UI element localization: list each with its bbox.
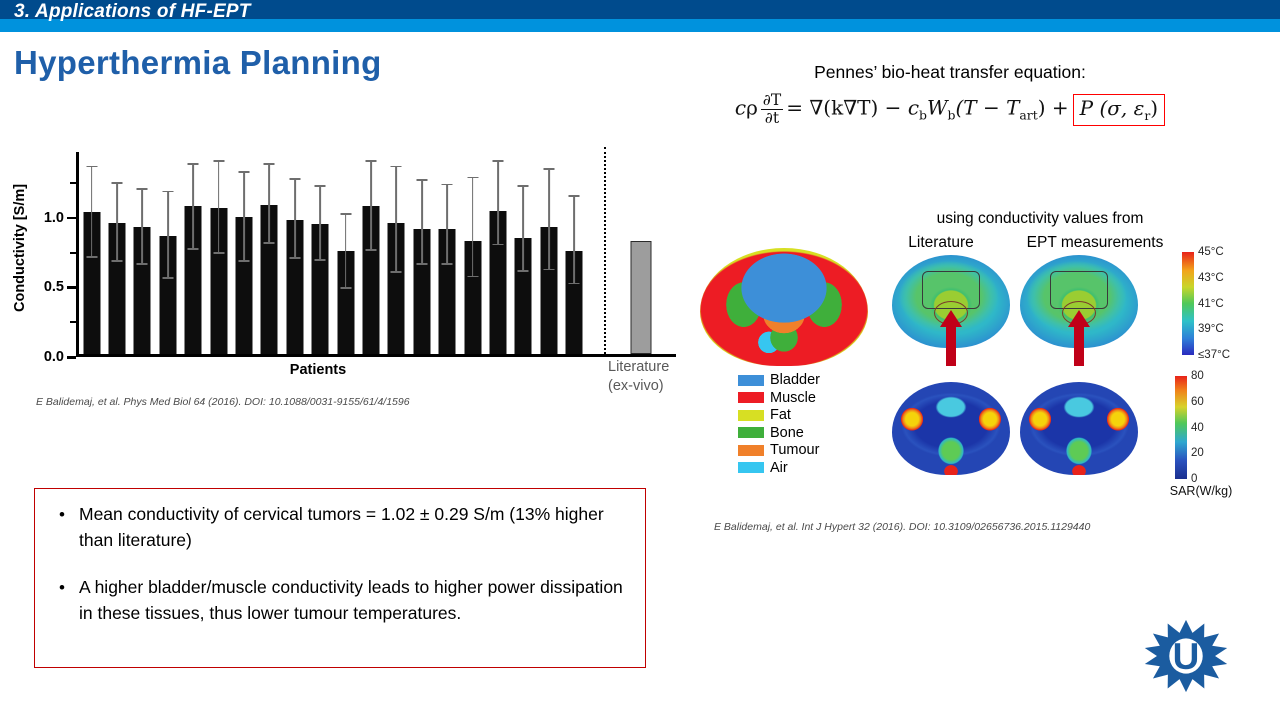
chart-errorbar bbox=[345, 215, 347, 289]
chart-errorbar bbox=[395, 167, 397, 273]
chart-y-minor-tick bbox=[70, 252, 76, 254]
legend-label: Fat bbox=[770, 407, 791, 423]
chart-bar-group bbox=[155, 152, 180, 354]
eq-rhs-2: (T − T bbox=[955, 96, 1019, 120]
chart-y-tick bbox=[67, 286, 76, 289]
chart-errorbar bbox=[497, 162, 499, 246]
chart-errorbar-cap bbox=[239, 171, 250, 173]
chart-errorbar-cap bbox=[365, 160, 376, 162]
tissue-legend: BladderMuscleFatBoneTumourAir bbox=[738, 372, 820, 477]
temperature-colorbar: 45°C43°C41°C39°C≤37°C bbox=[1182, 252, 1194, 355]
eq-cb: c bbox=[908, 96, 919, 120]
colorbar-tick-label: 20 bbox=[1191, 447, 1204, 459]
chart-errorbar bbox=[370, 162, 372, 251]
chart-bar-group-literature bbox=[621, 152, 661, 354]
legend-swatch bbox=[738, 392, 764, 403]
colorbar-tick-label: 45°C bbox=[1198, 246, 1224, 258]
segmented-pelvis-image bbox=[700, 248, 868, 366]
chart-errorbar-cap bbox=[112, 260, 123, 262]
citation-right: E Balidemaj, et al. Int J Hypert 32 (201… bbox=[714, 521, 1090, 533]
chart-errorbar bbox=[319, 187, 321, 261]
chart-errorbar bbox=[421, 181, 423, 265]
colorbar-tick-label: 41°C bbox=[1198, 298, 1224, 310]
eq-boxed-text: P (σ, ε bbox=[1080, 96, 1145, 120]
chart-bar-literature bbox=[630, 241, 651, 354]
eq-rho: ρ bbox=[746, 96, 758, 120]
chart-errorbar-cap bbox=[86, 166, 97, 168]
chart-errorbar-cap bbox=[492, 244, 503, 246]
conductivity-bar-chart: Conductivity [S/m] 0.00.51.0 Patients Li… bbox=[18, 152, 688, 387]
chart-bar-group bbox=[282, 152, 307, 354]
chart-errorbar-cap bbox=[416, 179, 427, 181]
chart-errorbar bbox=[142, 190, 144, 265]
eq-c: c bbox=[735, 96, 746, 120]
colorbar-tick-label: 60 bbox=[1191, 396, 1204, 408]
legend-label: Bladder bbox=[770, 372, 820, 388]
chart-bar-group bbox=[511, 152, 536, 354]
legend-label: Tumour bbox=[770, 442, 819, 458]
eq-boxed-close: ) bbox=[1150, 96, 1158, 120]
chart-errorbar-cap bbox=[391, 166, 402, 168]
chart-errorbar-cap bbox=[86, 256, 97, 258]
chart-errorbar-cap bbox=[289, 178, 300, 180]
chart-bars bbox=[79, 152, 676, 354]
chart-y-minor-tick bbox=[70, 321, 76, 323]
chart-errorbar-cap bbox=[289, 257, 300, 259]
legend-swatch bbox=[738, 445, 764, 456]
chart-y-tick bbox=[67, 217, 76, 220]
legend-item: Air bbox=[738, 460, 820, 476]
chart-x-axis bbox=[76, 354, 676, 357]
sar-map-ept bbox=[1020, 382, 1138, 475]
chart-y-minor-tick bbox=[70, 182, 76, 184]
legend-swatch bbox=[738, 462, 764, 473]
bullet-marker: • bbox=[45, 575, 79, 626]
literature-bar-label: Literature (ex-vivo) bbox=[608, 358, 718, 396]
chart-errorbar-cap bbox=[112, 182, 123, 184]
chart-bar-group bbox=[104, 152, 129, 354]
chart-y-tick-label: 0.5 bbox=[44, 279, 64, 295]
column-label-literature: Literature bbox=[886, 234, 996, 252]
chart-errorbar-cap bbox=[442, 184, 453, 186]
chart-bar-group bbox=[130, 152, 155, 354]
chart-errorbar bbox=[446, 185, 448, 264]
chart-errorbar-cap bbox=[365, 249, 376, 251]
chart-errorbar-cap bbox=[264, 242, 275, 244]
bullet-text: Mean conductivity of cervical tumors = 1… bbox=[79, 502, 629, 553]
section-label: 3. Applications of HF-EPT bbox=[14, 1, 251, 23]
chart-errorbar-cap bbox=[543, 168, 554, 170]
chart-errorbar-cap bbox=[315, 259, 326, 261]
chart-errorbar-cap bbox=[467, 276, 478, 278]
legend-swatch bbox=[738, 375, 764, 386]
legend-item: Fat bbox=[738, 407, 820, 423]
findings-box: • Mean conductivity of cervical tumors =… bbox=[34, 488, 646, 668]
chart-errorbar bbox=[192, 165, 194, 250]
chart-errorbar bbox=[548, 170, 550, 270]
eq-tart-sub: art bbox=[1019, 108, 1037, 123]
chart-errorbar-cap bbox=[569, 195, 580, 197]
chart-errorbar bbox=[116, 184, 118, 262]
chart-errorbar-cap bbox=[442, 263, 453, 265]
sar-colorbar-title: SAR(W/kg) bbox=[1146, 484, 1256, 498]
chart-bar-group bbox=[206, 152, 231, 354]
chart-errorbar-cap bbox=[188, 248, 199, 250]
chart-bar-group bbox=[333, 152, 358, 354]
colorbar-tick-label: ≤37°C bbox=[1198, 349, 1230, 361]
chart-errorbar bbox=[522, 187, 524, 272]
chart-errorbar-cap bbox=[518, 185, 529, 187]
eq-wb: W bbox=[927, 96, 948, 120]
eq-rhs-1: = ∇(k∇T) − bbox=[786, 96, 901, 120]
chart-errorbar bbox=[472, 178, 474, 277]
chart-errorbar-cap bbox=[569, 283, 580, 285]
list-item: • Mean conductivity of cervical tumors =… bbox=[45, 502, 629, 553]
chart-errorbar-cap bbox=[162, 277, 173, 279]
logo-letter: U bbox=[1173, 636, 1200, 677]
chart-errorbar bbox=[243, 173, 245, 262]
chart-errorbar-cap bbox=[391, 271, 402, 273]
legend-label: Bone bbox=[770, 425, 804, 441]
column-label-ept: EPT measurements bbox=[1010, 234, 1180, 252]
bullet-marker: • bbox=[45, 502, 79, 553]
chart-bar-group bbox=[231, 152, 256, 354]
chart-errorbar-cap bbox=[315, 185, 326, 187]
chart-y-tick-label: 1.0 bbox=[44, 210, 64, 226]
sar-map-literature bbox=[892, 382, 1010, 475]
chart-bar-group bbox=[561, 152, 586, 354]
chart-errorbar-cap bbox=[416, 263, 427, 265]
legend-swatch bbox=[738, 427, 764, 438]
chart-bar-group bbox=[536, 152, 561, 354]
sar-colorbar: 806040200 bbox=[1175, 376, 1187, 479]
chart-bar-group bbox=[358, 152, 383, 354]
chart-errorbar bbox=[294, 180, 296, 259]
chart-bar-group bbox=[409, 152, 434, 354]
chart-bar-group bbox=[434, 152, 459, 354]
chart-bar-group bbox=[181, 152, 206, 354]
chart-errorbar bbox=[167, 192, 169, 278]
bullet-text: A higher bladder/muscle conductivity lea… bbox=[79, 575, 629, 626]
legend-swatch bbox=[738, 410, 764, 421]
legend-label: Air bbox=[770, 460, 788, 476]
colorbar-tick-label: 43°C bbox=[1198, 272, 1224, 284]
chart-errorbar-cap bbox=[188, 163, 199, 165]
eq-rhs-3: ) + bbox=[1038, 96, 1069, 120]
chart-errorbar-cap bbox=[213, 252, 224, 254]
list-item: • A higher bladder/muscle conductivity l… bbox=[45, 575, 629, 626]
chart-divider-dotted bbox=[604, 147, 606, 354]
chart-plot-area: 0.00.51.0 bbox=[76, 152, 676, 357]
chart-bar-group bbox=[460, 152, 485, 354]
chart-errorbar-cap bbox=[137, 263, 148, 265]
chart-errorbar-cap bbox=[518, 270, 529, 272]
legend-label: Muscle bbox=[770, 390, 816, 406]
chart-y-tick bbox=[67, 356, 76, 359]
legend-item: Muscle bbox=[738, 390, 820, 406]
eq-cb-sub: b bbox=[919, 108, 927, 123]
chart-errorbar-cap bbox=[162, 191, 173, 193]
chart-bar-group bbox=[257, 152, 282, 354]
chart-errorbar-cap bbox=[264, 163, 275, 165]
chart-errorbar-cap bbox=[543, 269, 554, 271]
boxed-power-term: P (σ, εr) bbox=[1073, 94, 1165, 126]
chart-errorbar-cap bbox=[340, 213, 351, 215]
legend-item: Bone bbox=[738, 425, 820, 441]
panel-heading: using conductivity values from bbox=[880, 210, 1200, 228]
chart-errorbar-cap bbox=[492, 160, 503, 162]
chart-bar-group bbox=[79, 152, 104, 354]
chart-bar-group bbox=[384, 152, 409, 354]
chart-errorbar-cap bbox=[340, 287, 351, 289]
slide-root: 3. Applications of HF-EPT Hyperthermia P… bbox=[0, 0, 1280, 720]
chart-errorbar-cap bbox=[239, 260, 250, 262]
chart-bar-group bbox=[485, 152, 510, 354]
chart-errorbar bbox=[218, 162, 220, 254]
chart-bar-group bbox=[308, 152, 333, 354]
chart-y-axis-label: Conductivity [S/m] bbox=[12, 22, 28, 192]
colorbar-tick-label: 80 bbox=[1191, 370, 1204, 382]
eq-frac-den: ∂t bbox=[761, 110, 783, 127]
legend-item: Tumour bbox=[738, 442, 820, 458]
page-title: Hyperthermia Planning bbox=[14, 44, 382, 82]
equation-caption: Pennes’ bio-heat transfer equation: bbox=[700, 62, 1200, 83]
eq-frac-num: ∂T bbox=[761, 92, 783, 110]
chart-errorbar bbox=[91, 167, 93, 258]
chart-errorbar-cap bbox=[467, 177, 478, 179]
colorbar-tick-label: 40 bbox=[1191, 422, 1204, 434]
chart-x-axis-label: Patients bbox=[18, 362, 618, 378]
eq-fraction: ∂T∂t bbox=[761, 92, 783, 126]
chart-errorbar bbox=[269, 165, 271, 244]
citation-left: E Balidemaj, et al. Phys Med Biol 64 (20… bbox=[36, 396, 410, 408]
chart-errorbar-cap bbox=[137, 188, 148, 190]
utrecht-university-logo: U bbox=[1142, 618, 1230, 694]
colorbar-tick-label: 39°C bbox=[1198, 323, 1224, 335]
chart-errorbar-cap bbox=[213, 160, 224, 162]
pennes-equation: cρ∂T∂t= ∇(k∇T) − cbWb(T − Tart) +P (σ, ε… bbox=[700, 92, 1200, 126]
chart-errorbar bbox=[573, 197, 575, 285]
legend-item: Bladder bbox=[738, 372, 820, 388]
